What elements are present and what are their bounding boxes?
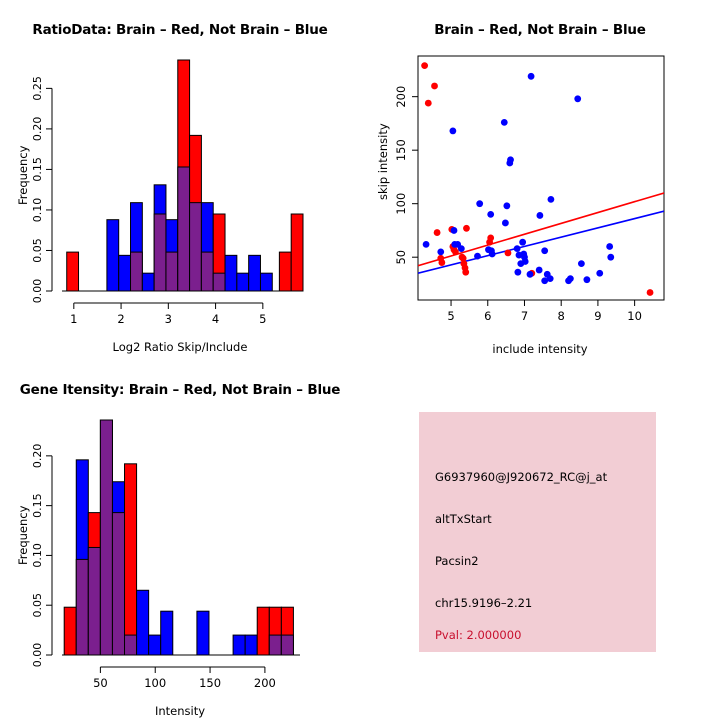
scatter-point	[421, 62, 428, 69]
x-axis-tick-label: 8	[558, 309, 565, 323]
scatter-point	[519, 239, 526, 246]
gene-hist-plot: 0.000.050.100.150.2050100150200	[0, 360, 360, 720]
scatter-point	[423, 241, 430, 248]
info-pval: Pval: 2.000000	[435, 628, 521, 642]
scatter-point	[548, 196, 555, 203]
scatter-point	[503, 202, 510, 209]
scatter-point	[516, 252, 523, 259]
figure-canvas: RatioData: Brain – Red, Not Brain – Blue…	[0, 0, 720, 720]
scatter-point	[536, 267, 543, 274]
scatter-point	[502, 220, 509, 227]
x-axis-tick-label: 6	[484, 309, 491, 323]
scatter-point	[514, 269, 521, 276]
scatter-point	[607, 254, 614, 261]
scatter-point	[567, 275, 574, 282]
ratio-hist-plot: 0.000.050.100.150.200.2512345	[0, 0, 360, 360]
scatter-point	[578, 260, 585, 267]
scatter-point	[528, 73, 535, 80]
y-axis-tick-label: 0.20	[31, 444, 44, 469]
hist-bar-overlap	[125, 635, 137, 655]
scatter-plot: 501001502005678910	[360, 0, 720, 360]
x-axis-tick-label: 1	[70, 312, 77, 326]
x-axis-tick-label: 200	[254, 676, 276, 690]
scatter-point	[437, 248, 444, 255]
hist-bar	[107, 220, 119, 291]
scatter-point	[506, 160, 513, 167]
scatter-point	[527, 271, 534, 278]
scatter-point	[431, 83, 438, 90]
info-event-type: altTxStart	[435, 512, 492, 526]
scatter-point	[462, 269, 469, 276]
info-probe-id: G6937960@J920672_RC@j_at	[435, 470, 607, 484]
scatter-point	[541, 247, 548, 254]
y-axis-tick-label: 150	[394, 139, 408, 161]
x-axis-tick-label: 5	[259, 312, 266, 326]
y-axis-tick-label: 0.05	[31, 238, 44, 263]
y-axis-tick-label: 0.15	[31, 493, 44, 518]
scatter-point	[452, 248, 459, 255]
scatter-point	[425, 100, 432, 107]
panel-gene-histogram: Gene Itensity: Brain – Red, Not Brain – …	[0, 360, 360, 720]
hist-bar	[64, 607, 76, 655]
y-axis-tick-label: 100	[394, 193, 408, 215]
hist-bar-overlap	[190, 203, 202, 291]
hist-bar-overlap	[100, 420, 112, 655]
hist-bar-overlap	[213, 273, 225, 291]
hist-bar	[279, 252, 291, 291]
hist-bar	[245, 635, 257, 655]
info-gene-symbol: Pacsin2	[435, 554, 479, 568]
y-axis-tick-label: 0.20	[31, 117, 44, 142]
hist-bar	[260, 273, 272, 291]
y-axis-tick-label: 50	[394, 250, 408, 265]
hist-bar-overlap	[178, 167, 190, 291]
scatter-point	[458, 245, 465, 252]
hist-bar	[161, 611, 173, 655]
hist-bar-overlap	[166, 252, 178, 291]
scatter-point	[451, 227, 458, 234]
hist-bar	[137, 590, 149, 655]
scatter-point	[486, 239, 493, 246]
y-axis-tick-label: 0.15	[31, 157, 44, 182]
y-axis-tick-label: 0.10	[31, 198, 44, 223]
y-axis-tick-label: 0.25	[31, 76, 44, 101]
x-axis-tick-label: 10	[627, 309, 642, 323]
hist-bar	[142, 273, 154, 291]
scatter-point	[606, 243, 613, 250]
y-axis-tick-label: 0.10	[31, 543, 44, 568]
scatter-point	[463, 225, 470, 232]
hist-bar-overlap	[269, 635, 281, 655]
x-axis-tick-label: 3	[165, 312, 172, 326]
x-axis-tick-label: 150	[199, 676, 221, 690]
hist-bar-overlap	[281, 635, 293, 655]
hist-bar	[149, 635, 161, 655]
y-axis-tick-label: 0.00	[31, 643, 44, 668]
panel-scatter: Brain – Red, Not Brain – Blue skip inten…	[360, 0, 720, 360]
scatter-point	[489, 251, 496, 258]
scatter-point	[541, 277, 548, 284]
scatter-content	[418, 62, 664, 296]
scatter-point	[434, 229, 441, 236]
scatter-point	[647, 289, 654, 296]
scatter-point	[476, 200, 483, 207]
hist-bar	[67, 252, 79, 291]
scatter-point	[596, 270, 603, 277]
y-axis-tick-label: 0.00	[31, 279, 44, 304]
x-axis-tick-label: 100	[144, 676, 166, 690]
x-axis-tick-label: 5	[447, 309, 454, 323]
hist-bar	[125, 464, 137, 655]
scatter-point	[517, 260, 524, 267]
y-axis-tick-label: 200	[394, 86, 408, 108]
scatter-point	[449, 128, 456, 135]
hist-bar	[197, 611, 209, 655]
x-axis-tick-label: 50	[93, 676, 108, 690]
scatter-point	[514, 245, 521, 252]
scatter-point	[438, 259, 445, 266]
hist-bar	[291, 214, 303, 291]
info-panel-background	[419, 412, 656, 652]
hist-bar	[237, 273, 249, 291]
hist-bar	[119, 255, 131, 291]
hist-bar-overlap	[112, 513, 124, 655]
scatter-point	[474, 253, 481, 260]
x-axis-tick-label: 9	[594, 309, 601, 323]
hist-bar-overlap	[201, 252, 213, 291]
hist-bar-overlap	[76, 559, 88, 655]
scatter-point	[487, 211, 494, 218]
scatter-point	[536, 212, 543, 219]
x-axis-tick-label: 2	[117, 312, 124, 326]
panel-info: G6937960@J920672_RC@j_at altTxStart Pacs…	[360, 360, 720, 720]
hist-bar	[249, 255, 261, 291]
hist-bar	[233, 635, 245, 655]
x-axis-tick-label: 7	[521, 309, 528, 323]
y-axis-tick-label: 0.05	[31, 593, 44, 618]
x-axis-tick-label: 4	[212, 312, 219, 326]
scatter-point	[501, 119, 508, 126]
info-locus: chr15.9196–2.21	[435, 596, 532, 610]
hist-bar-overlap	[131, 252, 143, 291]
hist-bar	[225, 255, 237, 291]
panel-ratio-histogram: RatioData: Brain – Red, Not Brain – Blue…	[0, 0, 360, 360]
scatter-point	[583, 276, 590, 283]
scatter-point	[505, 250, 512, 257]
hist-bar-overlap	[154, 214, 166, 291]
hist-bar	[257, 607, 269, 655]
scatter-point	[574, 95, 581, 102]
hist-bar-overlap	[88, 547, 100, 655]
